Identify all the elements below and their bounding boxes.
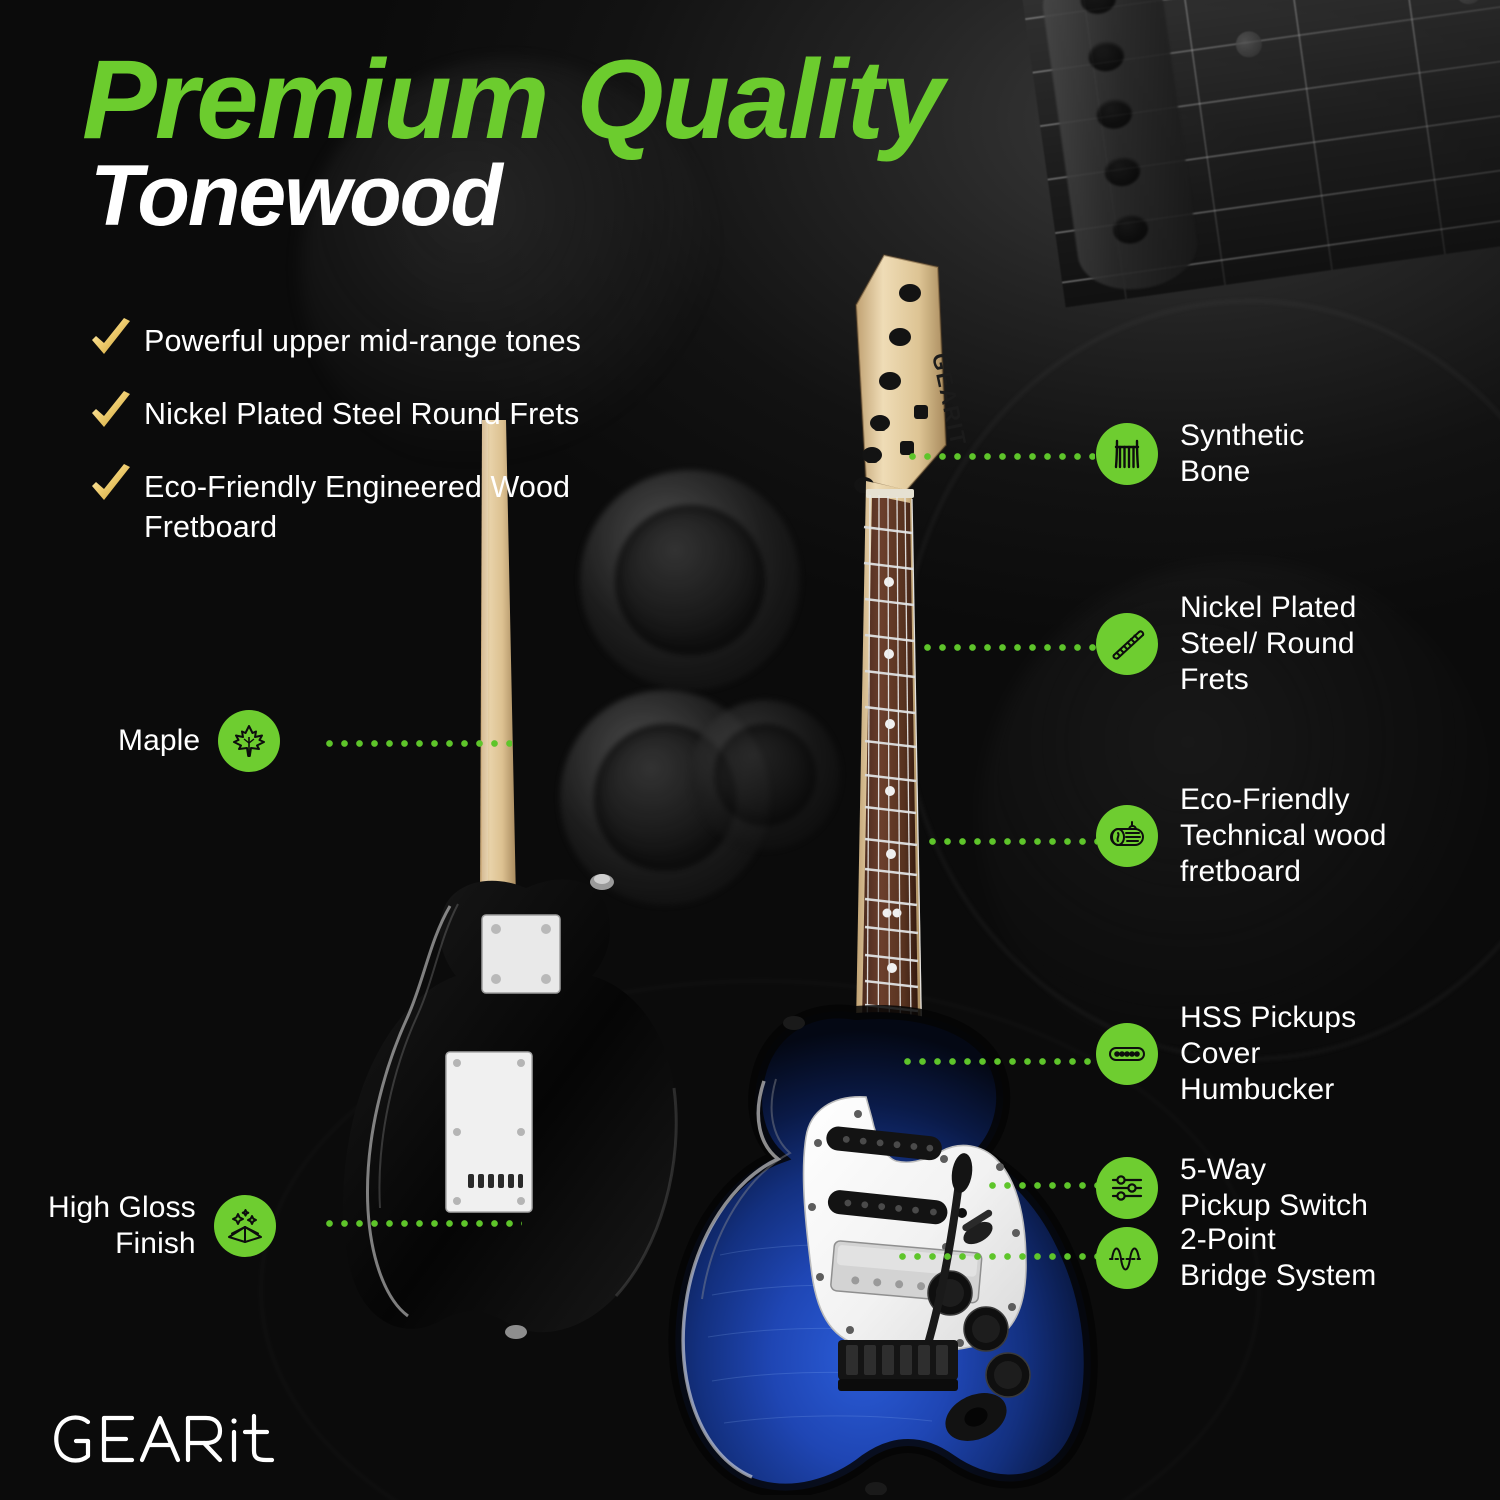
connector-switch [985, 1182, 1097, 1189]
bullet-item: Powerful upper mid-range tones [88, 322, 778, 367]
wood-log-icon [1096, 805, 1158, 867]
fretwire-icon [1096, 613, 1158, 675]
bridge-assembly [838, 1340, 958, 1391]
pickup-icon [1096, 1023, 1158, 1085]
feature-frets[interactable]: Nickel Plated Steel/ Round Frets [1096, 590, 1356, 698]
feature-bullet-list: Powerful upper mid-range tones Nickel Pl… [88, 322, 778, 575]
bullet-text: Eco-Friendly Engineered Wood Fretboard [144, 468, 704, 547]
brand-logo [48, 1408, 288, 1482]
bullet-item: Eco-Friendly Engineered Wood Fretboard [88, 468, 778, 547]
connector-gloss [322, 1220, 522, 1227]
feature-label: High Gloss Finish [48, 1190, 196, 1262]
headline-line-2: Tonewood [90, 157, 1202, 236]
feature-bridge-system[interactable]: 2-Point Bridge System [1096, 1222, 1376, 1294]
connector-bridge [895, 1253, 1097, 1260]
gold-check-icon [88, 391, 144, 440]
feature-synthetic-bone[interactable]: Synthetic Bone [1096, 418, 1304, 490]
bullet-item: Nickel Plated Steel Round Frets [88, 395, 778, 440]
gold-check-icon [88, 464, 144, 513]
connector-synthetic-bone [905, 453, 1095, 460]
feature-label: Synthetic Bone [1180, 418, 1304, 490]
feature-label: Eco-Friendly Technical wood fretboard [1180, 782, 1387, 890]
connector-maple [322, 740, 512, 747]
gearit-logo-mark [48, 1408, 288, 1470]
maple-leaf-icon [218, 710, 280, 772]
infographic-canvas: GEARIT [0, 0, 1500, 1500]
feature-maple[interactable]: Maple [118, 710, 280, 772]
feature-label: 2-Point Bridge System [1180, 1222, 1376, 1294]
feature-pickup-switch[interactable]: 5-Way Pickup Switch [1096, 1152, 1368, 1224]
sliders-icon [1096, 1157, 1158, 1219]
connector-frets [920, 644, 1096, 651]
feature-label: 5-Way Pickup Switch [1180, 1152, 1368, 1224]
nut-icon [1096, 423, 1158, 485]
headline-line-1: Premium Quality [82, 48, 1202, 151]
connector-fretboard [925, 838, 1097, 845]
feature-hss-pickups[interactable]: HSS Pickups Cover Humbucker [1096, 1000, 1356, 1108]
feature-high-gloss[interactable]: High Gloss Finish [48, 1190, 276, 1262]
feature-label: HSS Pickups Cover Humbucker [1180, 1000, 1356, 1108]
bullet-text: Nickel Plated Steel Round Frets [144, 395, 579, 435]
gloss-shine-icon [214, 1195, 276, 1257]
bullet-text: Powerful upper mid-range tones [144, 322, 581, 362]
feature-eco-fretboard[interactable]: Eco-Friendly Technical wood fretboard [1096, 782, 1387, 890]
feature-label: Nickel Plated Steel/ Round Frets [1180, 590, 1356, 698]
feature-label: Maple [118, 723, 200, 759]
gold-check-icon [88, 318, 144, 367]
waveform-icon [1096, 1227, 1158, 1289]
connector-pickups [900, 1058, 1096, 1065]
page-title: Premium Quality Tonewood [82, 48, 1202, 236]
